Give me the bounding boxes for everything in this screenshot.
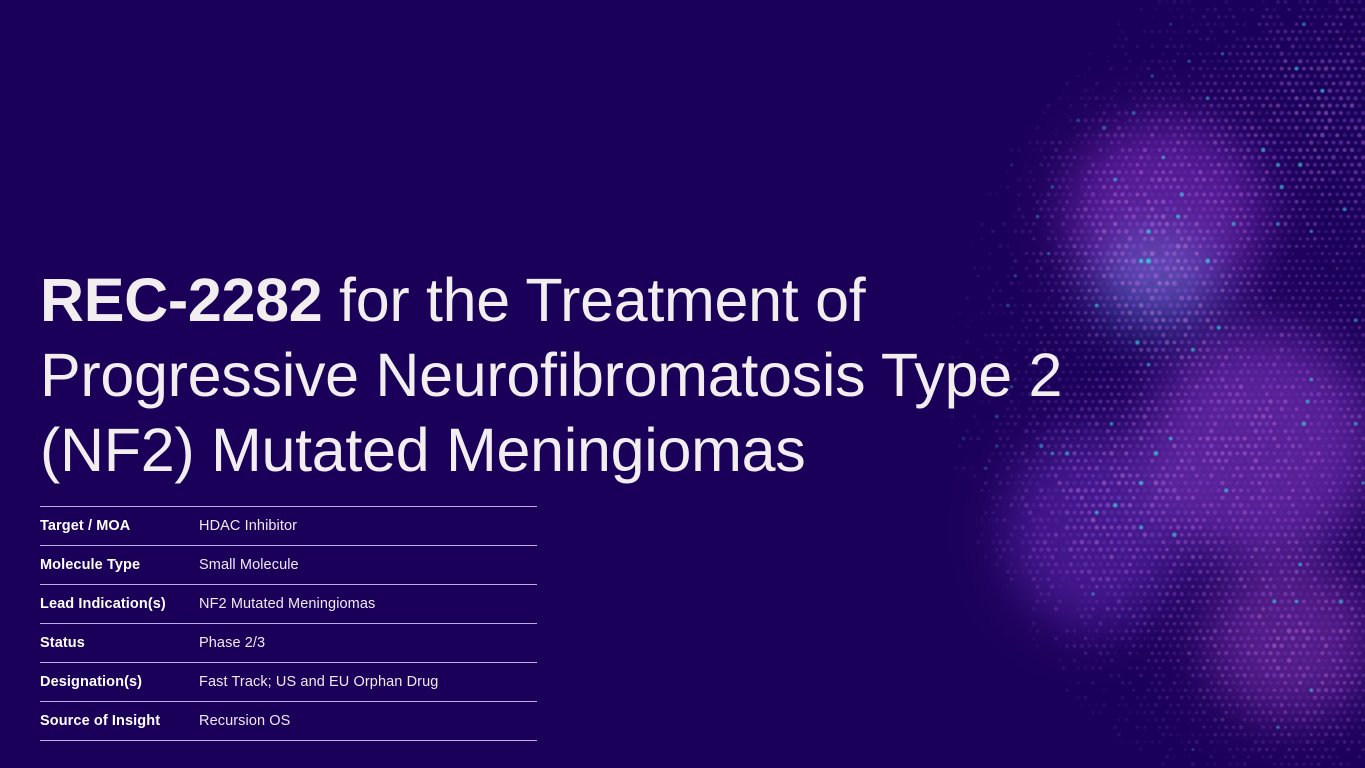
table-row: Molecule TypeSmall Molecule bbox=[40, 546, 537, 585]
spec-value: Small Molecule bbox=[199, 546, 537, 585]
glow-blob-rose bbox=[1205, 560, 1365, 720]
drug-spec-table-body: Target / MOAHDAC InhibitorMolecule TypeS… bbox=[40, 507, 537, 741]
table-row: Source of InsightRecursion OS bbox=[40, 702, 537, 741]
spec-label: Designation(s) bbox=[40, 663, 199, 702]
page-title: REC-2282 for the Treatment of Progressiv… bbox=[40, 263, 1200, 488]
table-row: Designation(s)Fast Track; US and EU Orph… bbox=[40, 663, 537, 702]
spec-value: Recursion OS bbox=[199, 702, 537, 741]
spec-label: Status bbox=[40, 624, 199, 663]
spec-value: Phase 2/3 bbox=[199, 624, 537, 663]
spec-label: Molecule Type bbox=[40, 546, 199, 585]
table-row: Target / MOAHDAC Inhibitor bbox=[40, 507, 537, 546]
spec-label: Target / MOA bbox=[40, 507, 199, 546]
drug-spec-table: Target / MOAHDAC InhibitorMolecule TypeS… bbox=[40, 506, 537, 741]
spec-label: Source of Insight bbox=[40, 702, 199, 741]
spec-value: NF2 Mutated Meningiomas bbox=[199, 585, 537, 624]
spec-value: Fast Track; US and EU Orphan Drug bbox=[199, 663, 537, 702]
spec-label: Lead Indication(s) bbox=[40, 585, 199, 624]
page-title-emphasis: REC-2282 bbox=[40, 266, 322, 334]
spec-value: HDAC Inhibitor bbox=[199, 507, 537, 546]
table-row: Lead Indication(s)NF2 Mutated Meningioma… bbox=[40, 585, 537, 624]
table-row: StatusPhase 2/3 bbox=[40, 624, 537, 663]
slide: REC-2282 for the Treatment of Progressiv… bbox=[0, 0, 1365, 768]
